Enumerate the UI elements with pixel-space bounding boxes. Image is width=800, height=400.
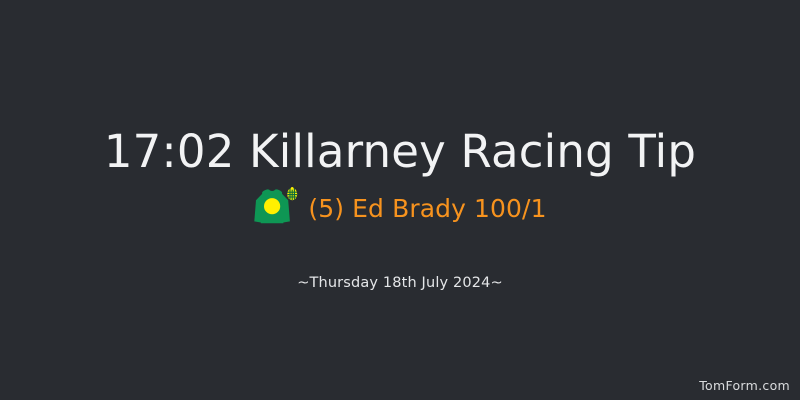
tip-line: (5) Ed Brady 100/1: [253, 186, 546, 228]
race-date: ~Thursday 18th July 2024~: [297, 275, 503, 291]
tip-container: (5) Ed Brady 100/1: [0, 186, 800, 228]
watermark: TomForm.com: [699, 378, 790, 393]
racing-tip-card: 17:02 Killarney Racing Tip: [0, 0, 800, 400]
tip-selection-text: (5) Ed Brady 100/1: [308, 196, 546, 221]
page-title: 17:02 Killarney Racing Tip: [104, 127, 696, 177]
date-container: ~Thursday 18th July 2024~: [0, 272, 800, 291]
jockey-silks-icon: [253, 186, 299, 228]
